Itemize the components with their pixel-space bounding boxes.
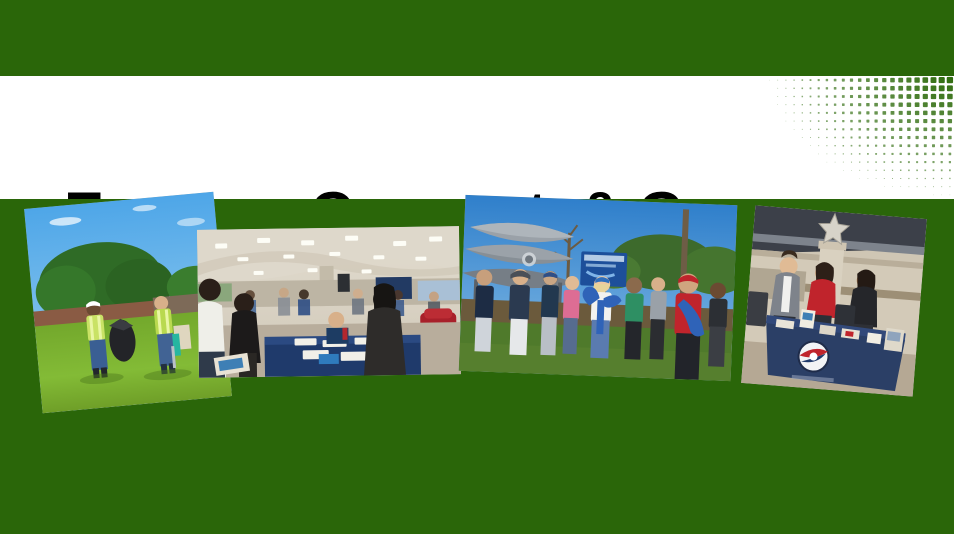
photo-content [459,195,738,381]
port-houston-logo [797,340,829,372]
indoor-resource-fair-photo [197,226,461,378]
title-band: Engage, Connect, & Grow [0,76,954,199]
photo-content [741,205,927,396]
photo-content [197,226,461,378]
slide-canvas: Engage, Connect, & Grow [0,0,954,534]
halftone-dots-icon [764,76,954,199]
outreach-booth-photo [741,205,927,396]
paddling-trail-ribbon-cutting-photo [459,195,738,381]
